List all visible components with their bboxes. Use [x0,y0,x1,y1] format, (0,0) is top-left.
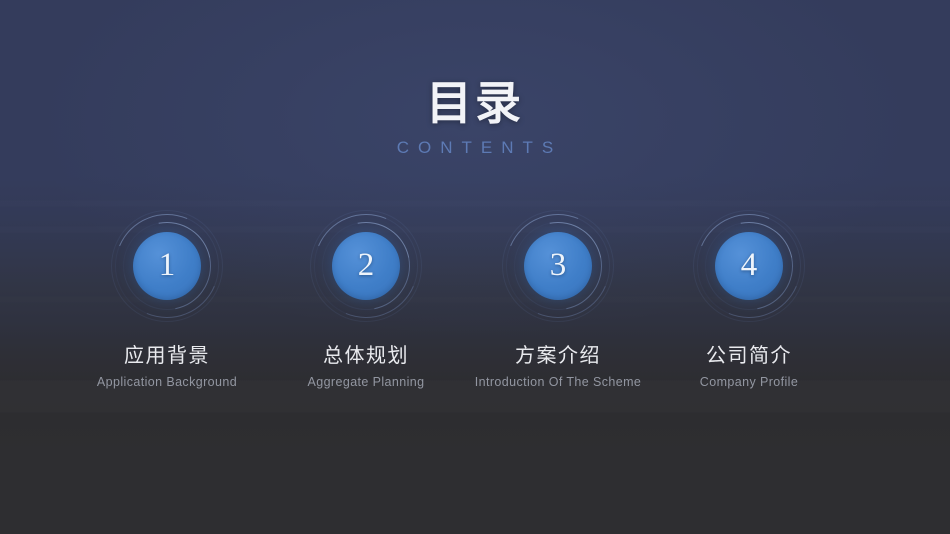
item-label-cn: 公司简介 [639,344,859,368]
badge-number: 2 [358,249,375,282]
badge-disc: 3 [524,232,592,300]
badge-disc: 1 [133,232,201,300]
item-label-en: Company Profile [639,375,859,390]
contents-item-1[interactable]: 1应用背景Application Background [57,210,277,390]
item-label-cn: 总体规划 [256,344,476,368]
slide-header: 目录 CONTENTS [0,78,950,158]
contents-item-4[interactable]: 4公司简介Company Profile [639,210,859,390]
badge-disc: 4 [715,232,783,300]
item-label-en: Introduction Of The Scheme [448,375,668,390]
item-label-cn: 方案介绍 [448,344,668,368]
item-label-en: Aggregate Planning [256,375,476,390]
number-badge-3[interactable]: 3 [502,210,614,322]
badge-number: 3 [550,249,567,282]
number-badge-2[interactable]: 2 [310,210,422,322]
contents-item-3[interactable]: 3方案介绍Introduction Of The Scheme [448,210,668,390]
contents-item-list: 1应用背景Application Background2总体规划Aggregat… [0,210,950,390]
badge-number: 1 [159,249,176,282]
number-badge-1[interactable]: 1 [111,210,223,322]
number-badge-4[interactable]: 4 [693,210,805,322]
badge-number: 4 [741,249,758,282]
page-title: 目录 [0,78,950,128]
page-subtitle: CONTENTS [0,138,950,158]
contents-slide: 目录 CONTENTS 1应用背景Application Background2… [0,0,950,534]
item-label-cn: 应用背景 [57,344,277,368]
item-label-en: Application Background [57,375,277,390]
badge-disc: 2 [332,232,400,300]
contents-item-2[interactable]: 2总体规划Aggregate Planning [256,210,476,390]
